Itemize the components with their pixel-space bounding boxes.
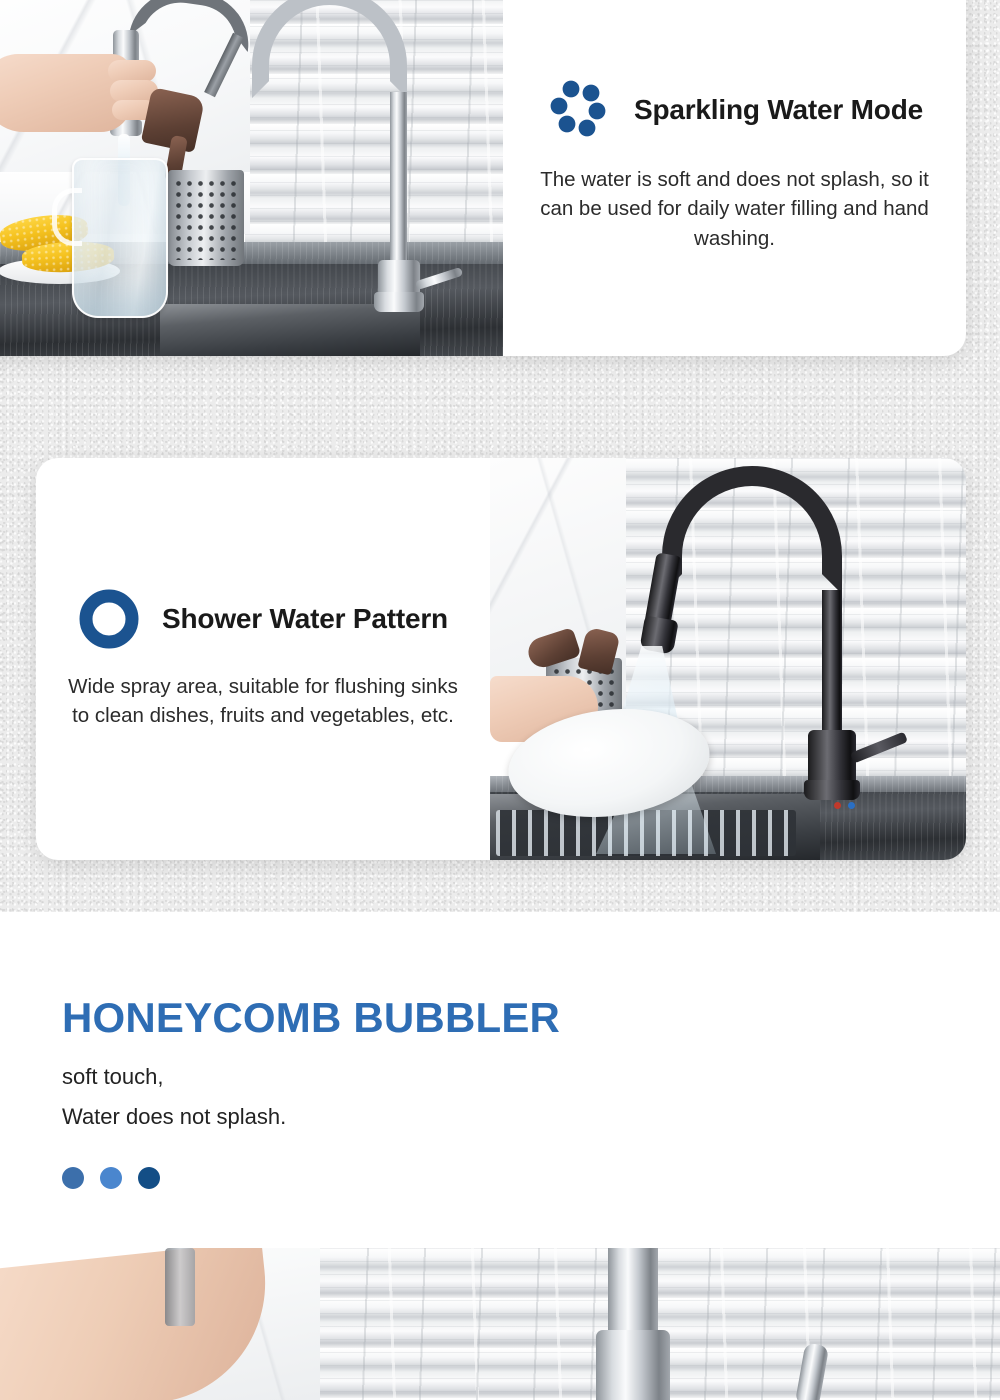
steel-faucet-gooseneck	[252, 0, 407, 98]
feature-card-shower-water: Shower Water Pattern Wide spray area, su…	[36, 458, 966, 860]
honeycomb-bubbler-section: HONEYCOMB BUBBLER soft touch, Water does…	[0, 912, 1000, 1248]
honeycomb-bubbles-icon	[546, 77, 612, 143]
sparkling-water-title: Sparkling Water Mode	[634, 92, 923, 128]
shower-water-photo	[490, 458, 966, 860]
shower-water-header: Shower Water Pattern	[78, 588, 448, 650]
utensil-holder	[168, 170, 244, 266]
sparkling-water-header: Sparkling Water Mode	[546, 77, 923, 143]
shower-water-description: Wide spray area, suitable for flushing s…	[63, 672, 463, 730]
sparkling-water-description: The water is soft and does not splash, s…	[535, 165, 935, 252]
glass-pitcher	[72, 158, 168, 318]
faucet-spout-tube	[608, 1248, 658, 1334]
feature-card-sparkling-water: Sparkling Water Mode The water is soft a…	[0, 0, 966, 356]
cold-indicator-dot	[848, 802, 855, 809]
honeycomb-subtext-line-1: soft touch,	[62, 1064, 164, 1090]
shower-water-text-block: Shower Water Pattern Wide spray area, su…	[36, 458, 490, 860]
dot-1[interactable]	[62, 1167, 84, 1189]
dot-3[interactable]	[138, 1167, 160, 1189]
dot-2[interactable]	[100, 1167, 122, 1189]
color-swatch-dots	[62, 1167, 160, 1189]
honeycomb-heading: HONEYCOMB BUBBLER	[62, 994, 560, 1042]
shower-water-title: Shower Water Pattern	[162, 601, 448, 637]
sparkling-water-photo	[0, 0, 503, 356]
ring-spray-icon	[78, 588, 140, 650]
faucet-base-collar	[596, 1330, 670, 1400]
honeycomb-subtext-line-2: Water does not splash.	[62, 1104, 286, 1130]
sparkling-water-text-block: Sparkling Water Mode The water is soft a…	[503, 0, 966, 356]
hot-indicator-dot	[834, 802, 841, 809]
faucet-closeup-photo	[0, 1248, 1000, 1400]
